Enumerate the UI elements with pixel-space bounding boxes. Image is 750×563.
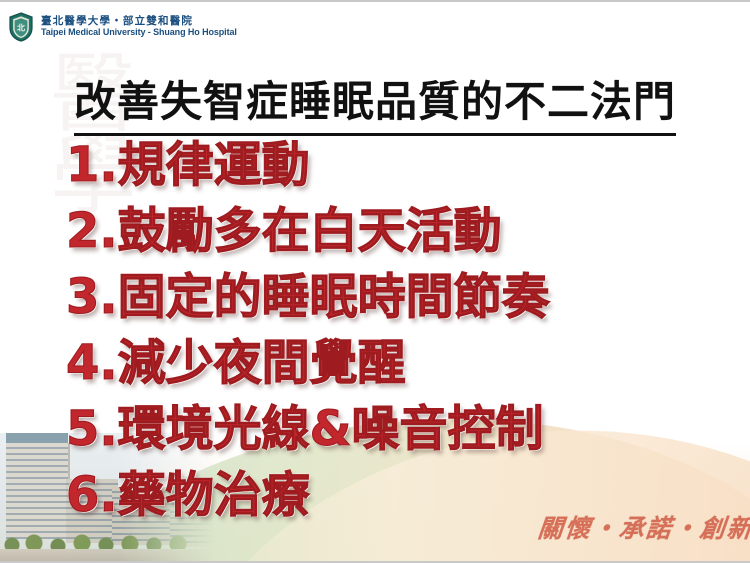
list-item: 3.固定的睡眠時間節奏	[66, 264, 740, 330]
shield-emblem-icon: 北	[8, 12, 34, 42]
page-title: 改善失智症睡眠品質的不二法門	[74, 68, 676, 136]
hospital-branding-header: 北 臺北醫學大學‧部立雙和醫院 Taipei Medical Universit…	[8, 12, 237, 42]
org-name-chinese: 臺北醫學大學‧部立雙和醫院	[41, 16, 237, 27]
org-name-english: Taipei Medical University - Shuang Ho Ho…	[41, 28, 237, 37]
building-tower-a-roof	[6, 433, 68, 443]
list-item: 5.環境光線&噪音控制	[66, 396, 740, 462]
ground-plaza	[0, 549, 215, 561]
recommendation-list: 1.規律運動 2.鼓勵多在白天活動 3.固定的睡眠時間節奏 4.減少夜間覺醒 5…	[66, 132, 740, 528]
list-item: 2.鼓勵多在白天活動	[66, 198, 740, 264]
hospital-slogan: 關懷‧承諾‧創新	[536, 509, 750, 545]
list-item: 1.規律運動	[66, 132, 740, 198]
list-item: 4.減少夜間覺醒	[66, 330, 740, 396]
building-tower-a	[6, 443, 70, 539]
tree-row	[0, 531, 215, 553]
presentation-slide: 醫學 北 臺北醫學大學‧部立雙和醫院	[0, 0, 750, 563]
slide-title-container: 改善失智症睡眠品質的不二法門	[0, 68, 750, 136]
branding-text-block: 臺北醫學大學‧部立雙和醫院 Taipei Medical University …	[41, 16, 237, 37]
svg-text:北: 北	[17, 23, 25, 33]
